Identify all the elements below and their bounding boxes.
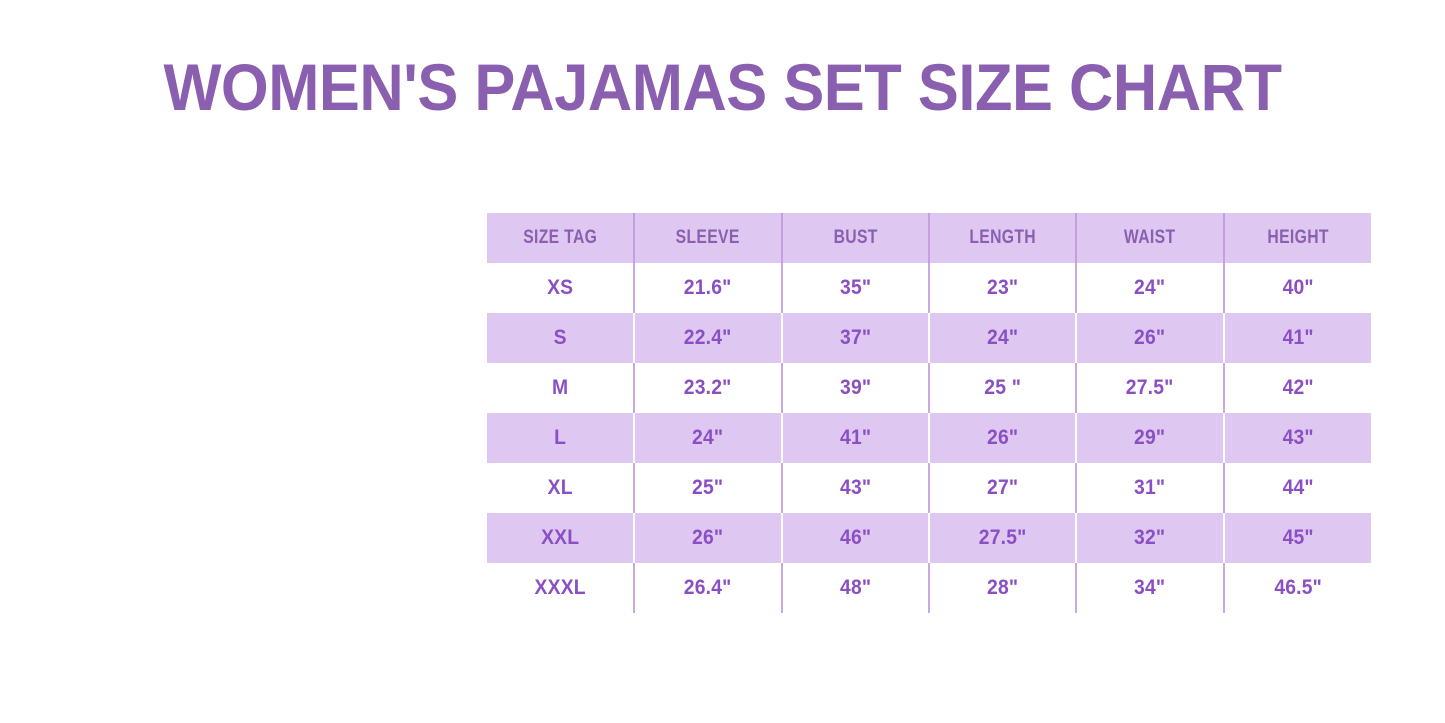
table-row: S 22.4" 37" 24" 26" 41" [487,313,1371,363]
cell-value: 25 " [936,376,1070,400]
column-header-waist-label: WAIST [1090,227,1210,249]
cell-value: 39" [788,376,922,400]
size-chart-container: SIZE TAG SLEEVE BUST LENGTH WAIST HEIGHT… [487,213,1371,618]
table-row: XXXL 26.4" 48" 28" 34" 46.5" [487,563,1371,613]
cell-waist: 27.5" [1076,363,1223,413]
cell-value: 41" [788,426,922,450]
table-row: XL 25" 43" 27" 31" 44" [487,463,1371,513]
cell-sleeve: 23.2" [634,363,781,413]
table-row: XS 21.6" 35" 23" 24" 40" [487,263,1371,313]
cell-sleeve: 26" [634,513,781,563]
cell-value: XXXL [493,576,628,600]
cell-value: 41" [1230,326,1365,350]
cell-height: 42" [1224,363,1371,413]
cell-value: XS [493,276,628,300]
column-header-height-label: HEIGHT [1237,227,1358,249]
cell-value: XL [493,476,628,500]
cell-value: S [493,326,628,350]
column-header-sleeve: SLEEVE [642,213,775,263]
cell-size-tag: L [487,413,634,463]
cell-bust: 48" [782,563,929,613]
cell-length: 28" [929,563,1076,613]
cell-value: L [493,426,628,450]
cell-length: 27" [929,463,1076,513]
cell-value: 21.6" [641,276,775,300]
cell-height: 46.5" [1224,563,1371,613]
cell-value: 27" [936,476,1070,500]
cell-value: 35" [788,276,922,300]
cell-value: 31" [1083,476,1217,500]
column-header-size-tag-label: SIZE TAG [500,227,621,249]
page-title: WOMEN'S PAJAMAS SET SIZE CHART [51,52,1395,122]
column-header-bust: BUST [789,213,922,263]
cell-sleeve: 26.4" [634,563,781,613]
cell-value: 37" [788,326,922,350]
cell-value: 43" [1230,426,1365,450]
table-row: L 24" 41" 26" 29" 43" [487,413,1371,463]
cell-value: 46" [788,526,922,550]
column-header-bust-label: BUST [795,227,915,249]
cell-size-tag: XXXL [487,563,634,613]
cell-value: 24" [641,426,775,450]
cell-value: 24" [1083,276,1217,300]
cell-length: 25 " [929,363,1076,413]
cell-value: 22.4" [641,326,775,350]
cell-length: 26" [929,413,1076,463]
cell-value: 28" [936,576,1070,600]
cell-size-tag: XS [487,263,634,313]
cell-height: 41" [1224,313,1371,363]
cell-bust: 35" [782,263,929,313]
cell-size-tag: S [487,313,634,363]
cell-bust: 46" [782,513,929,563]
cell-waist: 24" [1076,263,1223,313]
cell-value: 45" [1230,526,1365,550]
cell-waist: 32" [1076,513,1223,563]
cell-value: 29" [1083,426,1217,450]
cell-length: 23" [929,263,1076,313]
cell-sleeve: 22.4" [634,313,781,363]
column-header-waist: WAIST [1084,213,1217,263]
cell-value: 26" [1083,326,1217,350]
cell-value: 48" [788,576,922,600]
cell-waist: 34" [1076,563,1223,613]
table-header-row: SIZE TAG SLEEVE BUST LENGTH WAIST HEIGHT [487,213,1371,263]
cell-value: 26" [641,526,775,550]
column-header-sleeve-label: SLEEVE [648,227,768,249]
table-body: XS 21.6" 35" 23" 24" 40" S 22.4" 37" 24"… [487,263,1371,613]
cell-height: 40" [1224,263,1371,313]
cell-sleeve: 25" [634,463,781,513]
column-header-length: LENGTH [936,213,1069,263]
cell-value: 34" [1083,576,1217,600]
cell-value: 46.5" [1230,576,1365,600]
cell-value: 24" [936,326,1070,350]
cell-value: 27.5" [1083,376,1217,400]
cell-value: 23" [936,276,1070,300]
cell-waist: 31" [1076,463,1223,513]
column-header-size-tag: SIZE TAG [494,213,627,263]
cell-value: 26" [936,426,1070,450]
cell-value: M [493,376,628,400]
cell-value: 23.2" [641,376,775,400]
cell-height: 43" [1224,413,1371,463]
cell-sleeve: 21.6" [634,263,781,313]
cell-sleeve: 24" [634,413,781,463]
table-row: XXL 26" 46" 27.5" 32" 45" [487,513,1371,563]
cell-size-tag: XXL [487,513,634,563]
cell-height: 45" [1224,513,1371,563]
cell-length: 27.5" [929,513,1076,563]
cell-bust: 37" [782,313,929,363]
table-header: SIZE TAG SLEEVE BUST LENGTH WAIST HEIGHT [487,213,1371,263]
cell-value: 26.4" [641,576,775,600]
table-row: M 23.2" 39" 25 " 27.5" 42" [487,363,1371,413]
cell-height: 44" [1224,463,1371,513]
cell-value: 40" [1230,276,1365,300]
cell-length: 24" [929,313,1076,363]
cell-bust: 41" [782,413,929,463]
cell-value: 32" [1083,526,1217,550]
size-chart-table: SIZE TAG SLEEVE BUST LENGTH WAIST HEIGHT… [487,213,1371,613]
cell-bust: 39" [782,363,929,413]
cell-bust: 43" [782,463,929,513]
cell-value: XXL [493,526,628,550]
cell-value: 44" [1230,476,1365,500]
cell-size-tag: XL [487,463,634,513]
column-header-height: HEIGHT [1231,213,1364,263]
cell-value: 43" [788,476,922,500]
cell-size-tag: M [487,363,634,413]
cell-waist: 26" [1076,313,1223,363]
column-header-length-label: LENGTH [942,227,1062,249]
cell-waist: 29" [1076,413,1223,463]
cell-value: 42" [1230,376,1365,400]
cell-value: 25" [641,476,775,500]
cell-value: 27.5" [936,526,1070,550]
